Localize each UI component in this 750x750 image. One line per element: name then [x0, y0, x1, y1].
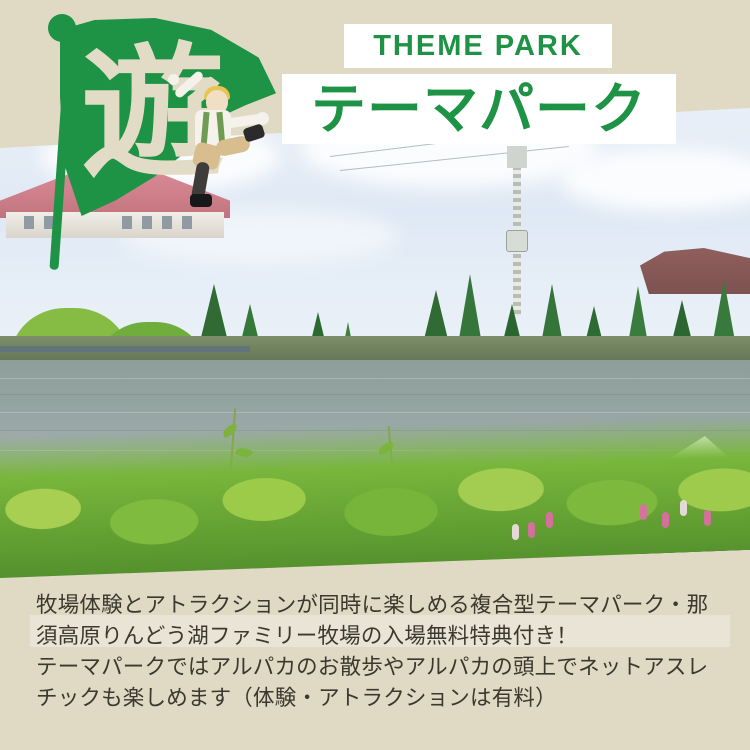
person-raised-arm [173, 70, 204, 99]
lakeside-railing [0, 346, 250, 352]
ride-top [507, 146, 527, 168]
flag-logo: 遊 [12, 6, 272, 276]
tower-ride [504, 146, 530, 316]
caption-text: 牧場体験とアトラクションが同時に楽しめる複合型テーマパーク・那須高原りんどう湖フ… [36, 590, 714, 714]
theme-park-card: 遊 THEME PARK テーマパーク 牧場体験とアトラクションが同時に楽しめる… [0, 0, 750, 750]
person-boot [190, 194, 212, 207]
pink-flower [528, 522, 535, 538]
white-flower [512, 524, 519, 540]
person-boot [242, 123, 265, 142]
jumping-person-illustration [164, 72, 268, 188]
person-hand [168, 74, 179, 85]
caption-block: 牧場体験とアトラクションが同時に楽しめる複合型テーマパーク・那須高原りんどう湖フ… [0, 578, 750, 750]
ride-gondola [506, 230, 528, 252]
pink-flower [640, 504, 647, 520]
label-en-text: THEME PARK [373, 30, 583, 63]
label-theme-park-en: THEME PARK [344, 24, 612, 68]
label-jp-text: テーマパーク [311, 79, 647, 139]
pink-flower [662, 512, 669, 528]
foreground-shrubs [0, 415, 750, 578]
person-hand [256, 112, 269, 125]
pink-flower [704, 510, 711, 526]
label-theme-park-jp: テーマパーク [282, 74, 676, 144]
white-flower [680, 500, 687, 516]
pink-flower [546, 512, 553, 528]
